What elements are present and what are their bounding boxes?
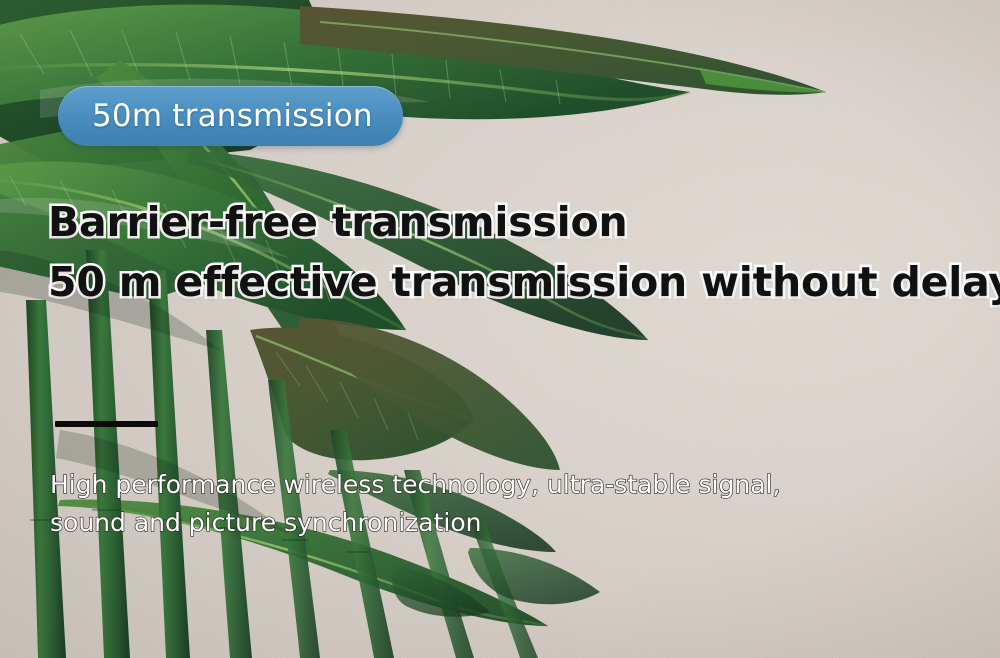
feature-badge-label: 50m transmission [92,101,373,132]
headline: Barrier-free transmission 50 m effective… [48,192,978,313]
feature-badge: 50m transmission [58,86,403,146]
headline-line-2: 50 m effective transmission without dela… [48,252,978,312]
subtitle-line-1: High performance wireless technology, ul… [50,466,910,504]
subtitle-line-2: sound and picture synchronization [50,504,910,542]
banner-content: 50m transmission Barrier-free transmissi… [0,0,1000,658]
headline-line-1: Barrier-free transmission [48,192,978,252]
subtitle: High performance wireless technology, ul… [50,466,910,542]
promo-banner: 50m transmission Barrier-free transmissi… [0,0,1000,658]
section-divider [55,421,158,427]
